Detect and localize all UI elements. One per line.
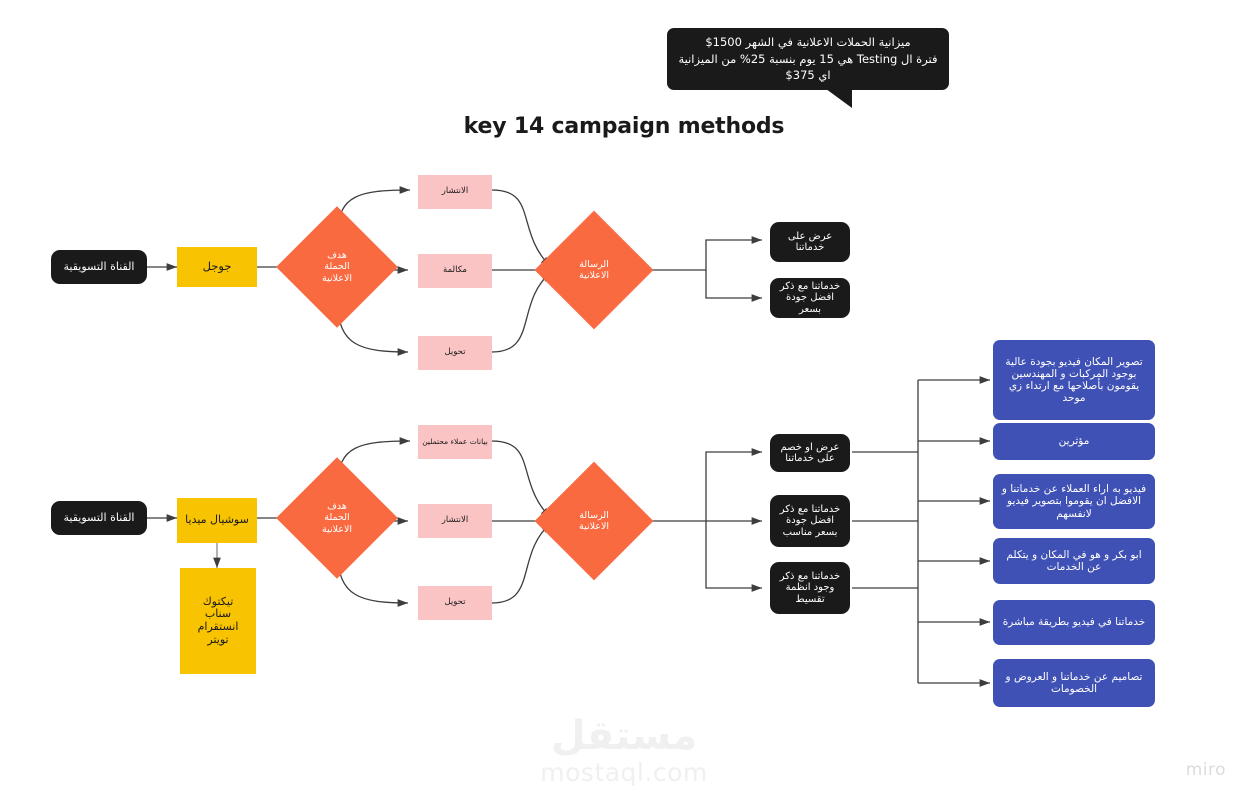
node-platform-social[interactable]: سوشيال ميديا [177,498,257,543]
node-goal-google-0[interactable]: الانتشار [418,175,492,209]
node-message-google-0[interactable]: عرض على خدماتنا [770,222,850,262]
node-message-diamond-social-label: الرسالة الاعلانية [579,510,609,533]
watermark-mostaql: مستقل mostaql.com [0,716,1248,787]
node-message-social-2[interactable]: خدماتنا مع ذكر وجود انظمة تقسيط [770,562,850,614]
node-goal-diamond-google-label: هدف الحملة الاعلانية [322,250,352,284]
page-title: key 14 campaign methods [0,114,1248,139]
callout-tail [808,86,852,108]
node-creative-3[interactable]: ابو بكر و هو في المكان و يتكلم عن الخدما… [993,538,1155,584]
node-creative-4[interactable]: خدماتنا في فيديو بطريقة مباشرة [993,600,1155,645]
node-goal-social-0[interactable]: بيانات عملاء محتملين [418,425,492,459]
node-creative-5[interactable]: تصاميم عن خدماتنا و العروض و الخصومات [993,659,1155,707]
node-message-diamond-social[interactable]: الرسالة الاعلانية [552,479,636,563]
node-goal-diamond-social-label: هدف الحملة الاعلانية [322,501,352,535]
node-goal-social-2[interactable]: تحويل [418,586,492,620]
node-creative-0[interactable]: تصوير المكان فيديو بجودة عالية بوجود الم… [993,340,1155,420]
node-message-google-1[interactable]: خدماتنا مع ذكر افضل جودة بسعر [770,278,850,318]
node-creative-1[interactable]: مؤثرين [993,423,1155,460]
node-goal-diamond-social[interactable]: هدف الحملة الاعلانية [294,475,380,561]
watermark-arabic: مستقل [0,716,1248,756]
node-goal-social-1[interactable]: الانتشار [418,504,492,538]
node-channel-google[interactable]: القناة التسويقية [51,250,147,284]
node-message-social-1[interactable]: خدماتنا مع ذكر افضل جودة بسعر مناسب [770,495,850,547]
node-channel-social[interactable]: القناة التسويقية [51,501,147,535]
watermark-url: mostaql.com [0,758,1248,787]
node-message-social-0[interactable]: عرض او خصم على خدماتنا [770,434,850,472]
node-goal-diamond-google[interactable]: هدف الحملة الاعلانية [294,224,380,310]
node-creative-2[interactable]: فيديو به اراء العملاء عن خدماتنا و الافض… [993,474,1155,529]
node-platform-google[interactable]: جوجل [177,247,257,287]
diagram-canvas: key 14 campaign methods ميزانية الحملات … [0,0,1248,800]
node-message-diamond-google[interactable]: الرسالة الاعلانية [552,228,636,312]
watermark-miro: miro [1186,760,1226,780]
budget-callout-note: ميزانية الحملات الاعلانية في الشهر 1500$… [667,28,949,90]
node-goal-google-2[interactable]: تحويل [418,336,492,370]
node-platform-social-sub[interactable]: تيكتوك سناب انستقرام تويتر [180,568,256,674]
node-goal-google-1[interactable]: مكالمة [418,254,492,288]
node-message-diamond-google-label: الرسالة الاعلانية [579,259,609,282]
